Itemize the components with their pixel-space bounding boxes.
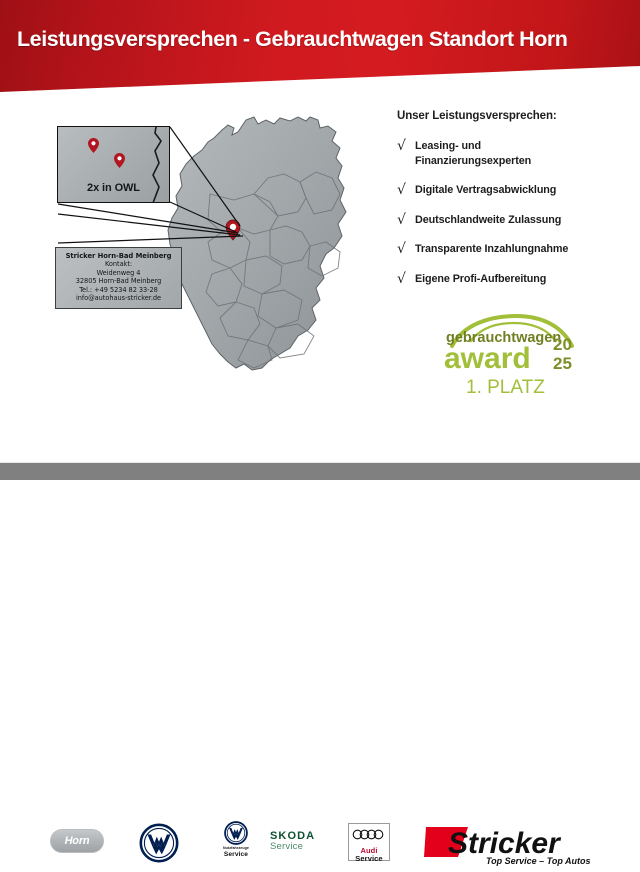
- contact-street: Weidenweg 4: [56, 269, 181, 277]
- vw-nutzfahrzeuge-logo: Nutzfahrzeuge Service: [205, 821, 267, 858]
- vw-nfz-line1: Nutzfahrzeuge: [205, 846, 267, 850]
- award-year-top: 20: [553, 335, 572, 354]
- promise-item-label: Leasing- und Finanzierungsexperten: [415, 139, 531, 168]
- check-icon: √: [397, 272, 415, 286]
- audi-sub: Service: [349, 854, 389, 863]
- award-rank: 1. PLATZ: [466, 377, 545, 398]
- promise-item-1-line2: Finanzierungsexperten: [415, 155, 531, 167]
- promise-heading: Unser Leistungsversprechen:: [397, 110, 629, 122]
- stricker-slogan: Top Service – Top Autos: [486, 856, 591, 866]
- promise-item-2: √ Digitale Vertragsabwicklung: [397, 183, 629, 198]
- germany-map: [150, 108, 380, 400]
- contact-box: Stricker Horn-Bad Meinberg Kontakt: Weid…: [55, 247, 182, 309]
- audi-service-logo: Audi Service: [348, 823, 390, 861]
- stricker-logo: Stricker Top Service – Top Autos Stricke…: [424, 815, 604, 867]
- promise-item-4: √ Transparente Inzahlungnahme: [397, 242, 629, 257]
- map-pin-1: [88, 138, 99, 153]
- audi-rings-icon: [352, 829, 386, 840]
- contact-name: Stricker Horn-Bad Meinberg: [56, 252, 181, 260]
- brand-logo-row: Horn Nutzfahrzeuge Service SKODA Service: [0, 406, 640, 462]
- award-badge: gebrauchtwagen award 20 25 1. PLATZ gebr…: [430, 312, 598, 398]
- promise-item-1-line1: Leasing- und: [415, 140, 481, 152]
- contact-phone: Tel.: +49 5234 82 33-28: [56, 286, 181, 294]
- header-banner: Leistungsversprechen - Gebrauchtwagen St…: [0, 0, 640, 92]
- map-pin-2: [114, 153, 125, 168]
- contact-kontakt-label: Kontakt:: [56, 260, 181, 268]
- owl-callout-box: 2x in OWL: [57, 126, 170, 203]
- promise-list: Unser Leistungsversprechen: √ Leasing- u…: [397, 110, 629, 301]
- footer-bar: [0, 462, 640, 480]
- check-icon: √: [397, 183, 415, 197]
- check-icon: √: [397, 242, 415, 256]
- skoda-service-logo: SKODA Service: [270, 830, 315, 852]
- promise-item-4-label: Transparente Inzahlungnahme: [415, 242, 568, 257]
- promise-item-3-label: Deutschlandweite Zulassung: [415, 213, 561, 228]
- contact-email: info@autohaus-stricker.de: [56, 294, 181, 302]
- vw-logo: [139, 823, 179, 868]
- callout-label: 2x in OWL: [58, 182, 169, 194]
- skoda-sub: Service: [270, 841, 315, 852]
- check-icon: √: [397, 213, 415, 227]
- promise-item-2-label: Digitale Vertragsabwicklung: [415, 183, 556, 198]
- award-year-bottom: 25: [553, 354, 572, 373]
- promise-item-5: √ Eigene Profi-Aufbereitung: [397, 272, 629, 287]
- horn-logo-label: Horn: [51, 830, 103, 852]
- page-title: Leistungsversprechen - Gebrauchtwagen St…: [17, 27, 568, 52]
- check-icon: √: [397, 139, 415, 153]
- award-line2: award: [444, 342, 531, 375]
- promise-item-5-label: Eigene Profi-Aufbereitung: [415, 272, 546, 287]
- vw-nfz-line2: Service: [205, 851, 267, 858]
- promise-item-1: √ Leasing- und Finanzierungsexperten: [397, 139, 629, 168]
- horn-logo: Horn: [50, 829, 104, 853]
- contact-city: 32805 Horn-Bad Meinberg: [56, 277, 181, 285]
- promise-item-3: √ Deutschlandweite Zulassung: [397, 213, 629, 228]
